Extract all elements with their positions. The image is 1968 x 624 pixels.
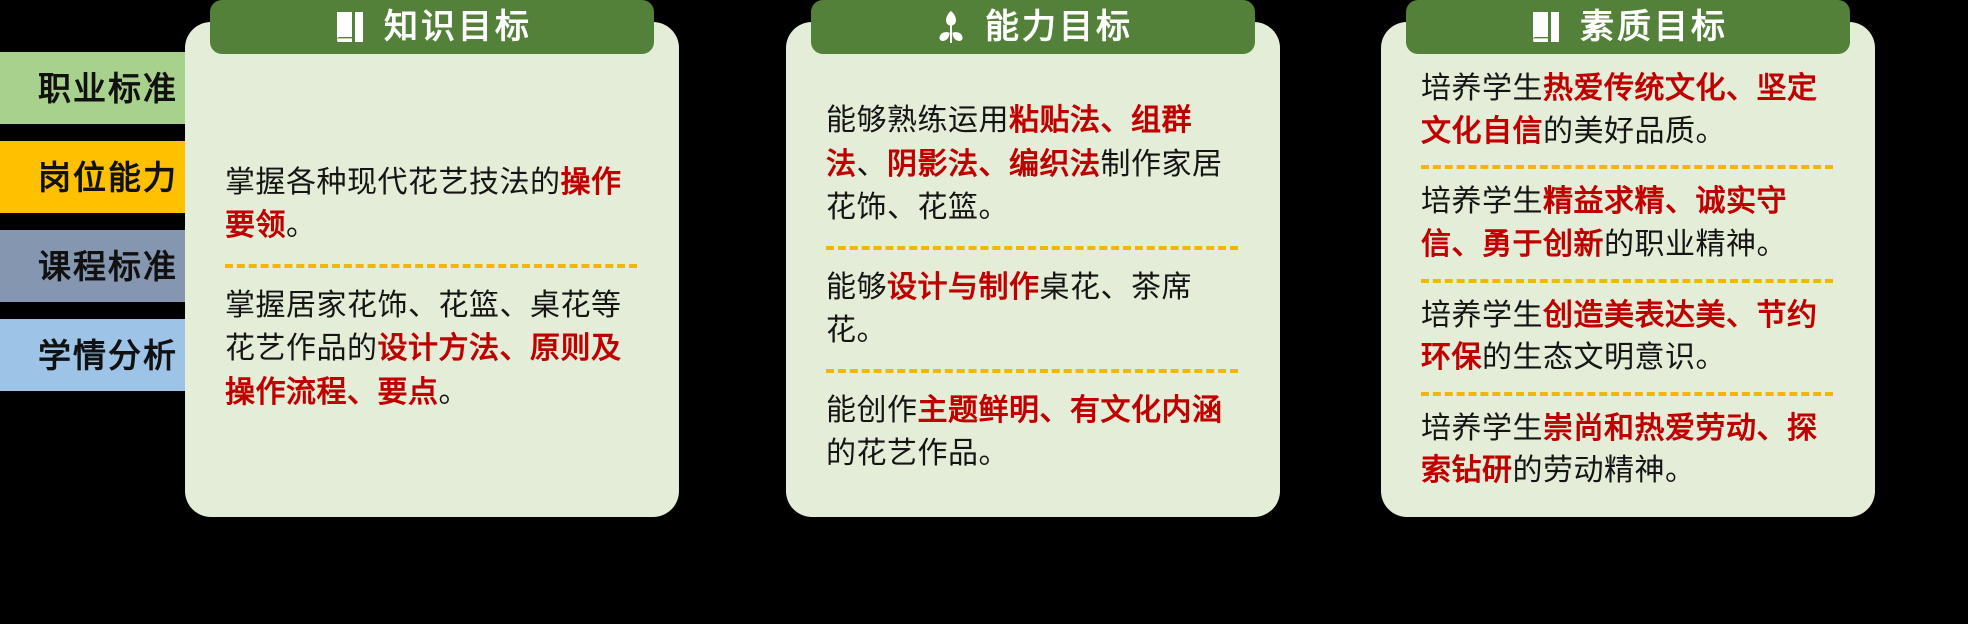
- plain-text: 。: [286, 209, 317, 242]
- highlight-text: 设计与制作: [887, 271, 1040, 304]
- panel-body: 掌握各种现代花艺技法的操作要领。掌握居家花饰、花篮、桌花等花艺作品的设计方法、原…: [225, 76, 651, 499]
- plain-text: 能创作: [826, 394, 918, 427]
- goal-item: 掌握居家花饰、花篮、桌花等花艺作品的设计方法、原则及操作流程、要点。: [225, 278, 651, 421]
- panel-header: 能力目标: [811, 0, 1255, 54]
- highlight-text: 主题鲜明、有文化内涵: [918, 394, 1223, 427]
- goal-item: 培养学生创造美表达美、节约环保的生态文明意识。: [1421, 291, 1847, 384]
- plain-text: 培养学生: [1421, 72, 1543, 105]
- plain-text: 的劳动精神。: [1513, 454, 1696, 487]
- panel-body: 培养学生热爱传统文化、坚定文化自信的美好品质。培养学生精益求精、诚实守信、勇于创…: [1421, 62, 1847, 499]
- plain-text: 的花艺作品。: [826, 437, 1009, 470]
- dashed-divider: [225, 264, 637, 268]
- plain-text: 培养学生: [1421, 299, 1543, 332]
- panel-ability-goals: 能力目标能够熟练运用粘贴法、组群法、阴影法、编织法制作家居花饰、花篮。能够设计与…: [786, 22, 1280, 517]
- goal-item: 培养学生崇尚和热爱劳动、探索钻研的劳动精神。: [1421, 404, 1847, 497]
- arrow-label: 职业标准: [38, 72, 178, 105]
- panel-title: 素质目标: [1580, 10, 1728, 44]
- book-icon: [1528, 9, 1564, 45]
- arrow-label: 课程标准: [38, 250, 178, 283]
- arrow-label: 岗位能力: [38, 161, 178, 194]
- plain-text: 培养学生: [1421, 185, 1543, 218]
- dashed-divider: [1421, 392, 1833, 396]
- plain-text: 的职业精神。: [1604, 228, 1787, 261]
- plain-text: 培养学生: [1421, 412, 1543, 445]
- goal-item: 掌握各种现代花艺技法的操作要领。: [225, 155, 651, 254]
- goal-item: 能够设计与制作桌花、茶席花。: [826, 260, 1252, 359]
- dashed-divider: [1421, 279, 1833, 283]
- panel-body: 能够熟练运用粘贴法、组群法、阴影法、编织法制作家居花饰、花篮。能够设计与制作桌花…: [826, 76, 1252, 499]
- dashed-divider: [826, 369, 1238, 373]
- plain-text: 的生态文明意识。: [1482, 341, 1726, 374]
- goal-item: 培养学生精益求精、诚实守信、勇于创新的职业精神。: [1421, 177, 1847, 270]
- panel-knowledge-goals: 知识目标掌握各种现代花艺技法的操作要领。掌握居家花饰、花篮、桌花等花艺作品的设计…: [185, 22, 679, 517]
- dashed-divider: [1421, 165, 1833, 169]
- flower-icon: [933, 9, 969, 45]
- goal-item: 能够熟练运用粘贴法、组群法、阴影法、编织法制作家居花饰、花篮。: [826, 93, 1252, 236]
- plain-text: 的美好品质。: [1543, 115, 1726, 148]
- plain-text: 、: [857, 148, 888, 181]
- plain-text: 能够熟练运用: [826, 104, 1009, 137]
- panel-quality-goals: 素质目标培养学生热爱传统文化、坚定文化自信的美好品质。培养学生精益求精、诚实守信…: [1381, 22, 1875, 517]
- panel-header: 知识目标: [210, 0, 654, 54]
- arrow-label: 学情分析: [38, 339, 178, 372]
- highlight-text: 阴影法、编织法: [887, 148, 1101, 181]
- goal-item: 培养学生热爱传统文化、坚定文化自信的美好品质。: [1421, 64, 1847, 157]
- plain-text: 。: [439, 376, 470, 409]
- panel-title: 能力目标: [985, 10, 1133, 44]
- plain-text: 掌握各种现代花艺技法的: [225, 166, 561, 199]
- diagram-canvas: 职业标准岗位能力课程标准学情分析 知识目标掌握各种现代花艺技法的操作要领。掌握居…: [0, 0, 1968, 624]
- dashed-divider: [826, 246, 1238, 250]
- plain-text: 能够: [826, 271, 887, 304]
- goal-item: 能创作主题鲜明、有文化内涵的花艺作品。: [826, 383, 1252, 482]
- book-icon: [332, 9, 368, 45]
- panel-title: 知识目标: [384, 10, 532, 44]
- panel-header: 素质目标: [1406, 0, 1850, 54]
